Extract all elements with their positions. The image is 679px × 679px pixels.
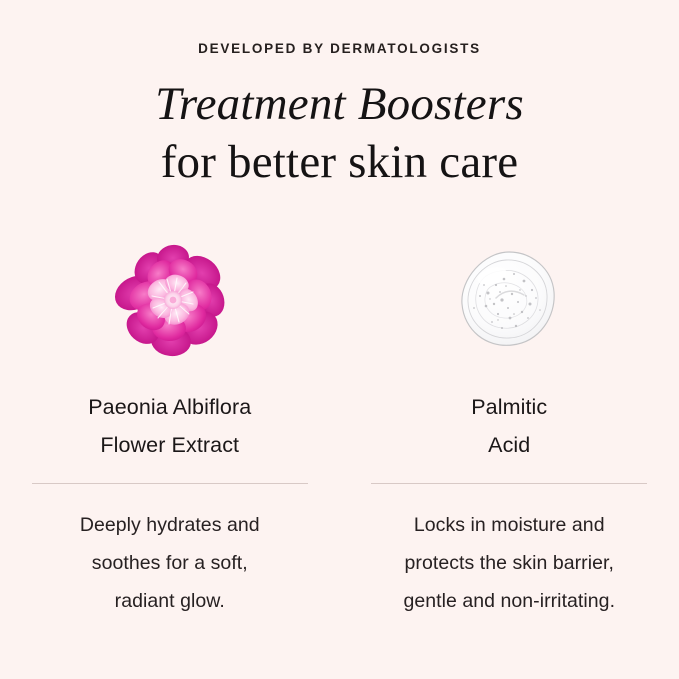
ingredient-description-paeonia-albiflora: Deeply hydrates and soothes for a soft, …	[80, 506, 260, 621]
ingredient-name-line-1: Palmitic	[471, 388, 547, 426]
product-benefits-infographic: DEVELOPED BY DERMATOLOGISTS Treatment Bo…	[0, 0, 679, 679]
divider-right	[371, 483, 647, 484]
description-line-2: soothes for a soft,	[80, 544, 260, 582]
ingredient-name-line-2: Flower Extract	[88, 426, 251, 464]
divider-left	[32, 483, 308, 484]
ingredient-name-palmitic-acid: Palmitic Acid	[471, 388, 547, 465]
ingredient-name-line-2: Acid	[471, 426, 547, 464]
ingredient-name-line-1: Paeonia Albiflora	[88, 388, 251, 426]
peony-flower-image	[105, 238, 235, 363]
ingredient-card-palmitic-acid: Palmitic Acid Locks in moisture and prot…	[340, 238, 679, 620]
ingredient-description-palmitic-acid: Locks in moisture and protects the skin …	[403, 506, 615, 621]
page-title-line-1: Treatment Boosters	[0, 75, 679, 135]
eyebrow-label: DEVELOPED BY DERMATOLOGISTS	[0, 42, 679, 56]
gel-droplet-image	[444, 238, 574, 363]
description-line-1: Deeply hydrates and	[80, 506, 260, 544]
page-title-line-2: for better skin care	[0, 133, 679, 193]
ingredient-card-paeonia-albiflora: Paeonia Albiflora Flower Extract Deeply …	[0, 238, 340, 620]
description-line-2: protects the skin barrier,	[403, 544, 615, 582]
description-line-3: gentle and non-irritating.	[403, 582, 615, 620]
description-line-3: radiant glow.	[80, 582, 260, 620]
ingredient-columns: Paeonia Albiflora Flower Extract Deeply …	[0, 238, 679, 620]
description-line-1: Locks in moisture and	[403, 506, 615, 544]
ingredient-name-paeonia-albiflora: Paeonia Albiflora Flower Extract	[88, 388, 251, 465]
page-title: Treatment Boosters for better skin care	[0, 75, 679, 192]
